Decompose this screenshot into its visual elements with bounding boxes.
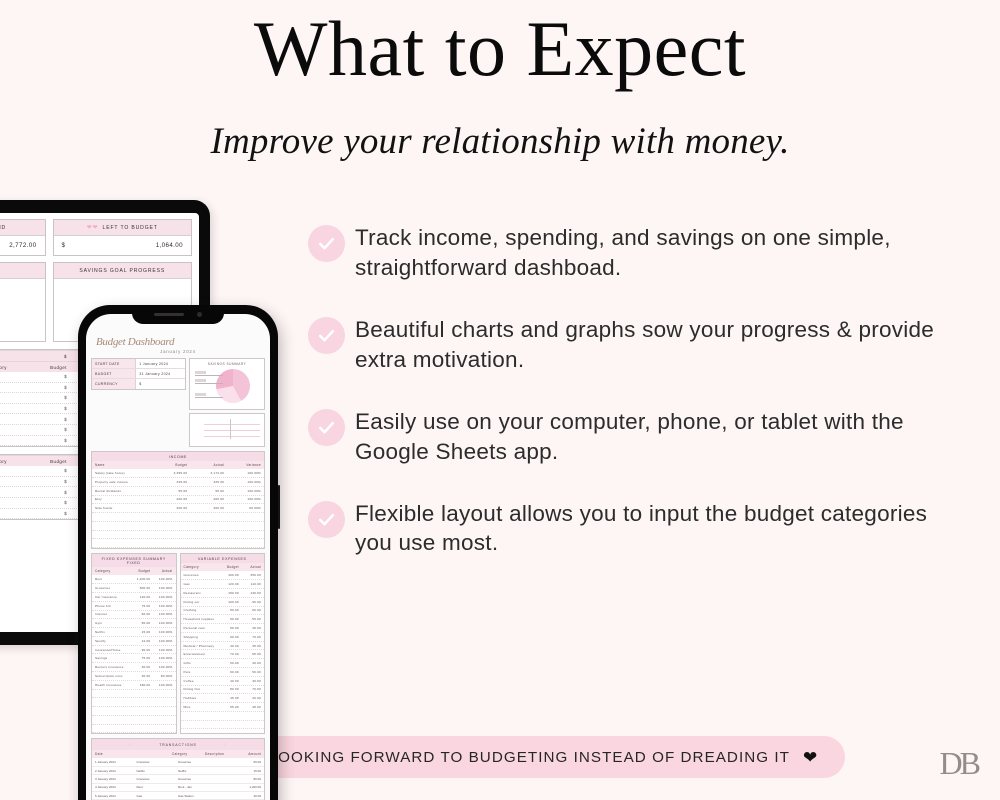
- list-item: Beautiful charts and graphs sow your pro…: [308, 314, 938, 375]
- table-row: Renters Insurance30.00100.00%: [92, 663, 176, 672]
- tablet-card-left-to-budget: ❤❤ LEFT TO BUDGET $ 1,064.00: [53, 219, 193, 256]
- table-row: Entertainment70.0065.00: [181, 650, 265, 659]
- table-row: .$$: [181, 721, 265, 730]
- tablet-panel-label: SAVINGS GOAL PROGRESS: [54, 263, 192, 279]
- list-item: START DATE 1 January 2024: [92, 359, 185, 368]
- page-subtitle: Improve your relationship with money.: [0, 120, 1000, 163]
- table-row: .$$$: [92, 513, 264, 522]
- table-row: 1 January 2024GroceriesGroceries50.00: [92, 758, 264, 766]
- table-row: Rent1,200.00100.00%: [92, 575, 176, 584]
- table-row: .$$: [92, 725, 176, 734]
- table-row: Gas120.00110.00: [181, 580, 265, 589]
- phone-dashboard-subtitle: January 2024: [91, 349, 265, 354]
- table-row: .$$$: [92, 522, 264, 531]
- table-row: .$$: [92, 698, 176, 707]
- brand-logo: DB: [940, 745, 978, 782]
- table-row: Car Insurance120.00100.00%: [92, 593, 176, 602]
- table-row: Salary (take home) 3,256.00 3,174.00 100…: [92, 469, 264, 478]
- table-row: Etsy 200.00 200.00 100.00%: [92, 496, 264, 505]
- gift-icon: ♢: [128, 742, 133, 748]
- table-row: .$$$: [92, 531, 264, 540]
- table-row: Health Insurance180.00100.00%: [92, 681, 176, 690]
- tablet-card-currency: $: [62, 242, 66, 249]
- table-row: Internet60.00100.00%: [92, 611, 176, 620]
- gift-icon: ♢: [223, 742, 228, 748]
- table-row: 5 January 2024GasGas Station40.00: [92, 792, 264, 800]
- table-row: Restaurant150.00130.00: [181, 589, 265, 598]
- device-mockup-group: ✦ LEFT TO SPEND $ 2,772.00 ❤❤ LEFT TO BU…: [0, 195, 300, 725]
- table-row: .$$: [92, 690, 176, 699]
- list-item: Flexible layout allows you to input the …: [308, 498, 938, 559]
- table-row: 4 January 2024RentRent - Jan1,200.00: [92, 784, 264, 792]
- phone-mockup: Budget Dashboard January 2024 START DATE…: [78, 305, 278, 800]
- cta-text: START LOOKING FORWARD TO BUDGETING INSTE…: [210, 749, 790, 766]
- camera-icon: [197, 312, 202, 317]
- table-header: Category Budget Actual: [181, 563, 265, 571]
- list-item: BUDGET 31 January 2024: [92, 368, 185, 378]
- table-row: Misc55.0048.00: [181, 703, 265, 712]
- table-row: Gifts50.0040.00: [181, 659, 265, 668]
- check-circle-icon: [308, 225, 345, 262]
- table-row: Spotify12.00100.00%: [92, 637, 176, 646]
- table-row: Netflix15.00100.00%: [92, 628, 176, 637]
- phone-side-button: [278, 485, 280, 529]
- table-row: Coffee40.0030.00: [181, 677, 265, 686]
- table-row: Savings75.00100.00%: [92, 654, 176, 663]
- table-header: Name Budget Actual Variance: [92, 461, 264, 469]
- phone-variable-expenses-section: VARIABLE EXPENSES Category Budget Actual…: [180, 553, 266, 734]
- phone-notch: [132, 305, 224, 324]
- table-row: Medical / Pharmacy40.0035.00: [181, 642, 265, 651]
- list-item: Track income, spending, and savings on o…: [308, 222, 938, 283]
- feature-list: Track income, spending, and savings on o…: [308, 222, 938, 589]
- tablet-card-value: 1,064.00: [156, 242, 183, 249]
- table-row: .$$$: [92, 539, 264, 548]
- tablet-panel-label: SAVED: [0, 263, 45, 279]
- table-row: Gym50.00100.00%: [92, 619, 176, 628]
- table-row: Shopping90.0070.00: [181, 633, 265, 642]
- heart-icon: ❤: [803, 749, 817, 766]
- table-row: Subscription misc30.0080.00%: [92, 672, 176, 681]
- feature-text: Flexible layout allows you to input the …: [345, 498, 938, 559]
- phone-bar-chart-card: [189, 413, 265, 447]
- phone-screen: Budget Dashboard January 2024 START DATE…: [86, 314, 270, 800]
- phone-fixed-expenses-section: FIXED EXPENSES SUMMARY FIXED Category Bu…: [91, 553, 177, 734]
- table-row: Dining Out80.0070.00: [181, 686, 265, 695]
- table-row: Household supplies60.0055.00: [181, 615, 265, 624]
- tablet-card-label: LEFT TO BUDGET: [103, 225, 158, 231]
- table-row: Insurance/Home90.00100.00%: [92, 646, 176, 655]
- list-item: Easily use on your computer, phone, or t…: [308, 406, 938, 467]
- table-row: 2 January 2024NetflixNetflix15.00: [92, 767, 264, 775]
- tablet-card-label: LEFT TO SPEND: [0, 225, 6, 231]
- table-row: Groceries500.00100.00%: [92, 584, 176, 593]
- check-circle-icon: [308, 409, 345, 446]
- table-row: Rental dividends 55.00 55.00 100.00%: [92, 487, 264, 496]
- phone-info-box: START DATE 1 January 2024 BUDGET 31 Janu…: [91, 358, 186, 390]
- table-row: Personal care50.0045.00: [181, 624, 265, 633]
- table-row: Side hustle 300.00 200.00 66.00%: [92, 504, 264, 513]
- table-header: Category Budget Actual: [92, 567, 176, 575]
- table-row: .$$: [92, 716, 176, 725]
- table-row: Pets60.0050.00: [181, 668, 265, 677]
- list-item: CURRENCY $: [92, 378, 185, 388]
- tablet-summary-cards: ✦ LEFT TO SPEND $ 2,772.00 ❤❤ LEFT TO BU…: [0, 213, 199, 256]
- table-row: .$$: [181, 712, 265, 721]
- feature-text: Track income, spending, and savings on o…: [345, 222, 938, 283]
- check-circle-icon: [308, 501, 345, 538]
- table-row: Property sale income 325.00 325.00 100.0…: [92, 478, 264, 487]
- table-row: Groceries400.00350.00: [181, 571, 265, 580]
- table-row: Phone bill75.00100.00%: [92, 602, 176, 611]
- phone-dashboard-title: Budget Dashboard: [91, 336, 265, 348]
- page-title: What to Expect: [0, 8, 1000, 91]
- table-row: 3 January 2024GroceriesGroceries80.00: [92, 775, 264, 783]
- table-header: Date Category Description Amount: [92, 750, 264, 758]
- phone-pie-chart-card: SAVINGS SUMMARY: [189, 358, 265, 410]
- table-row: Hobbies45.0040.00: [181, 694, 265, 703]
- tablet-card-left-to-spend: ✦ LEFT TO SPEND $ 2,772.00: [0, 219, 46, 256]
- table-row: Clothing80.0060.00: [181, 607, 265, 616]
- speaker-icon: [154, 313, 184, 317]
- table-row: .$$: [92, 707, 176, 716]
- check-circle-icon: [308, 317, 345, 354]
- tablet-panel-saved: SAVED: [0, 262, 46, 342]
- feature-text: Beautiful charts and graphs sow your pro…: [345, 314, 938, 375]
- hearts-icon: ❤❤: [87, 225, 99, 231]
- phone-transactions-section: ♢ TRANSACTIONS ♢ Date Category Descripti…: [91, 738, 265, 800]
- tablet-card-value: 2,772.00: [9, 242, 36, 249]
- table-row: Dining out100.0090.00: [181, 598, 265, 607]
- feature-text: Easily use on your computer, phone, or t…: [345, 406, 938, 467]
- phone-income-section: INCOME Name Budget Actual Variance Salar…: [91, 451, 265, 549]
